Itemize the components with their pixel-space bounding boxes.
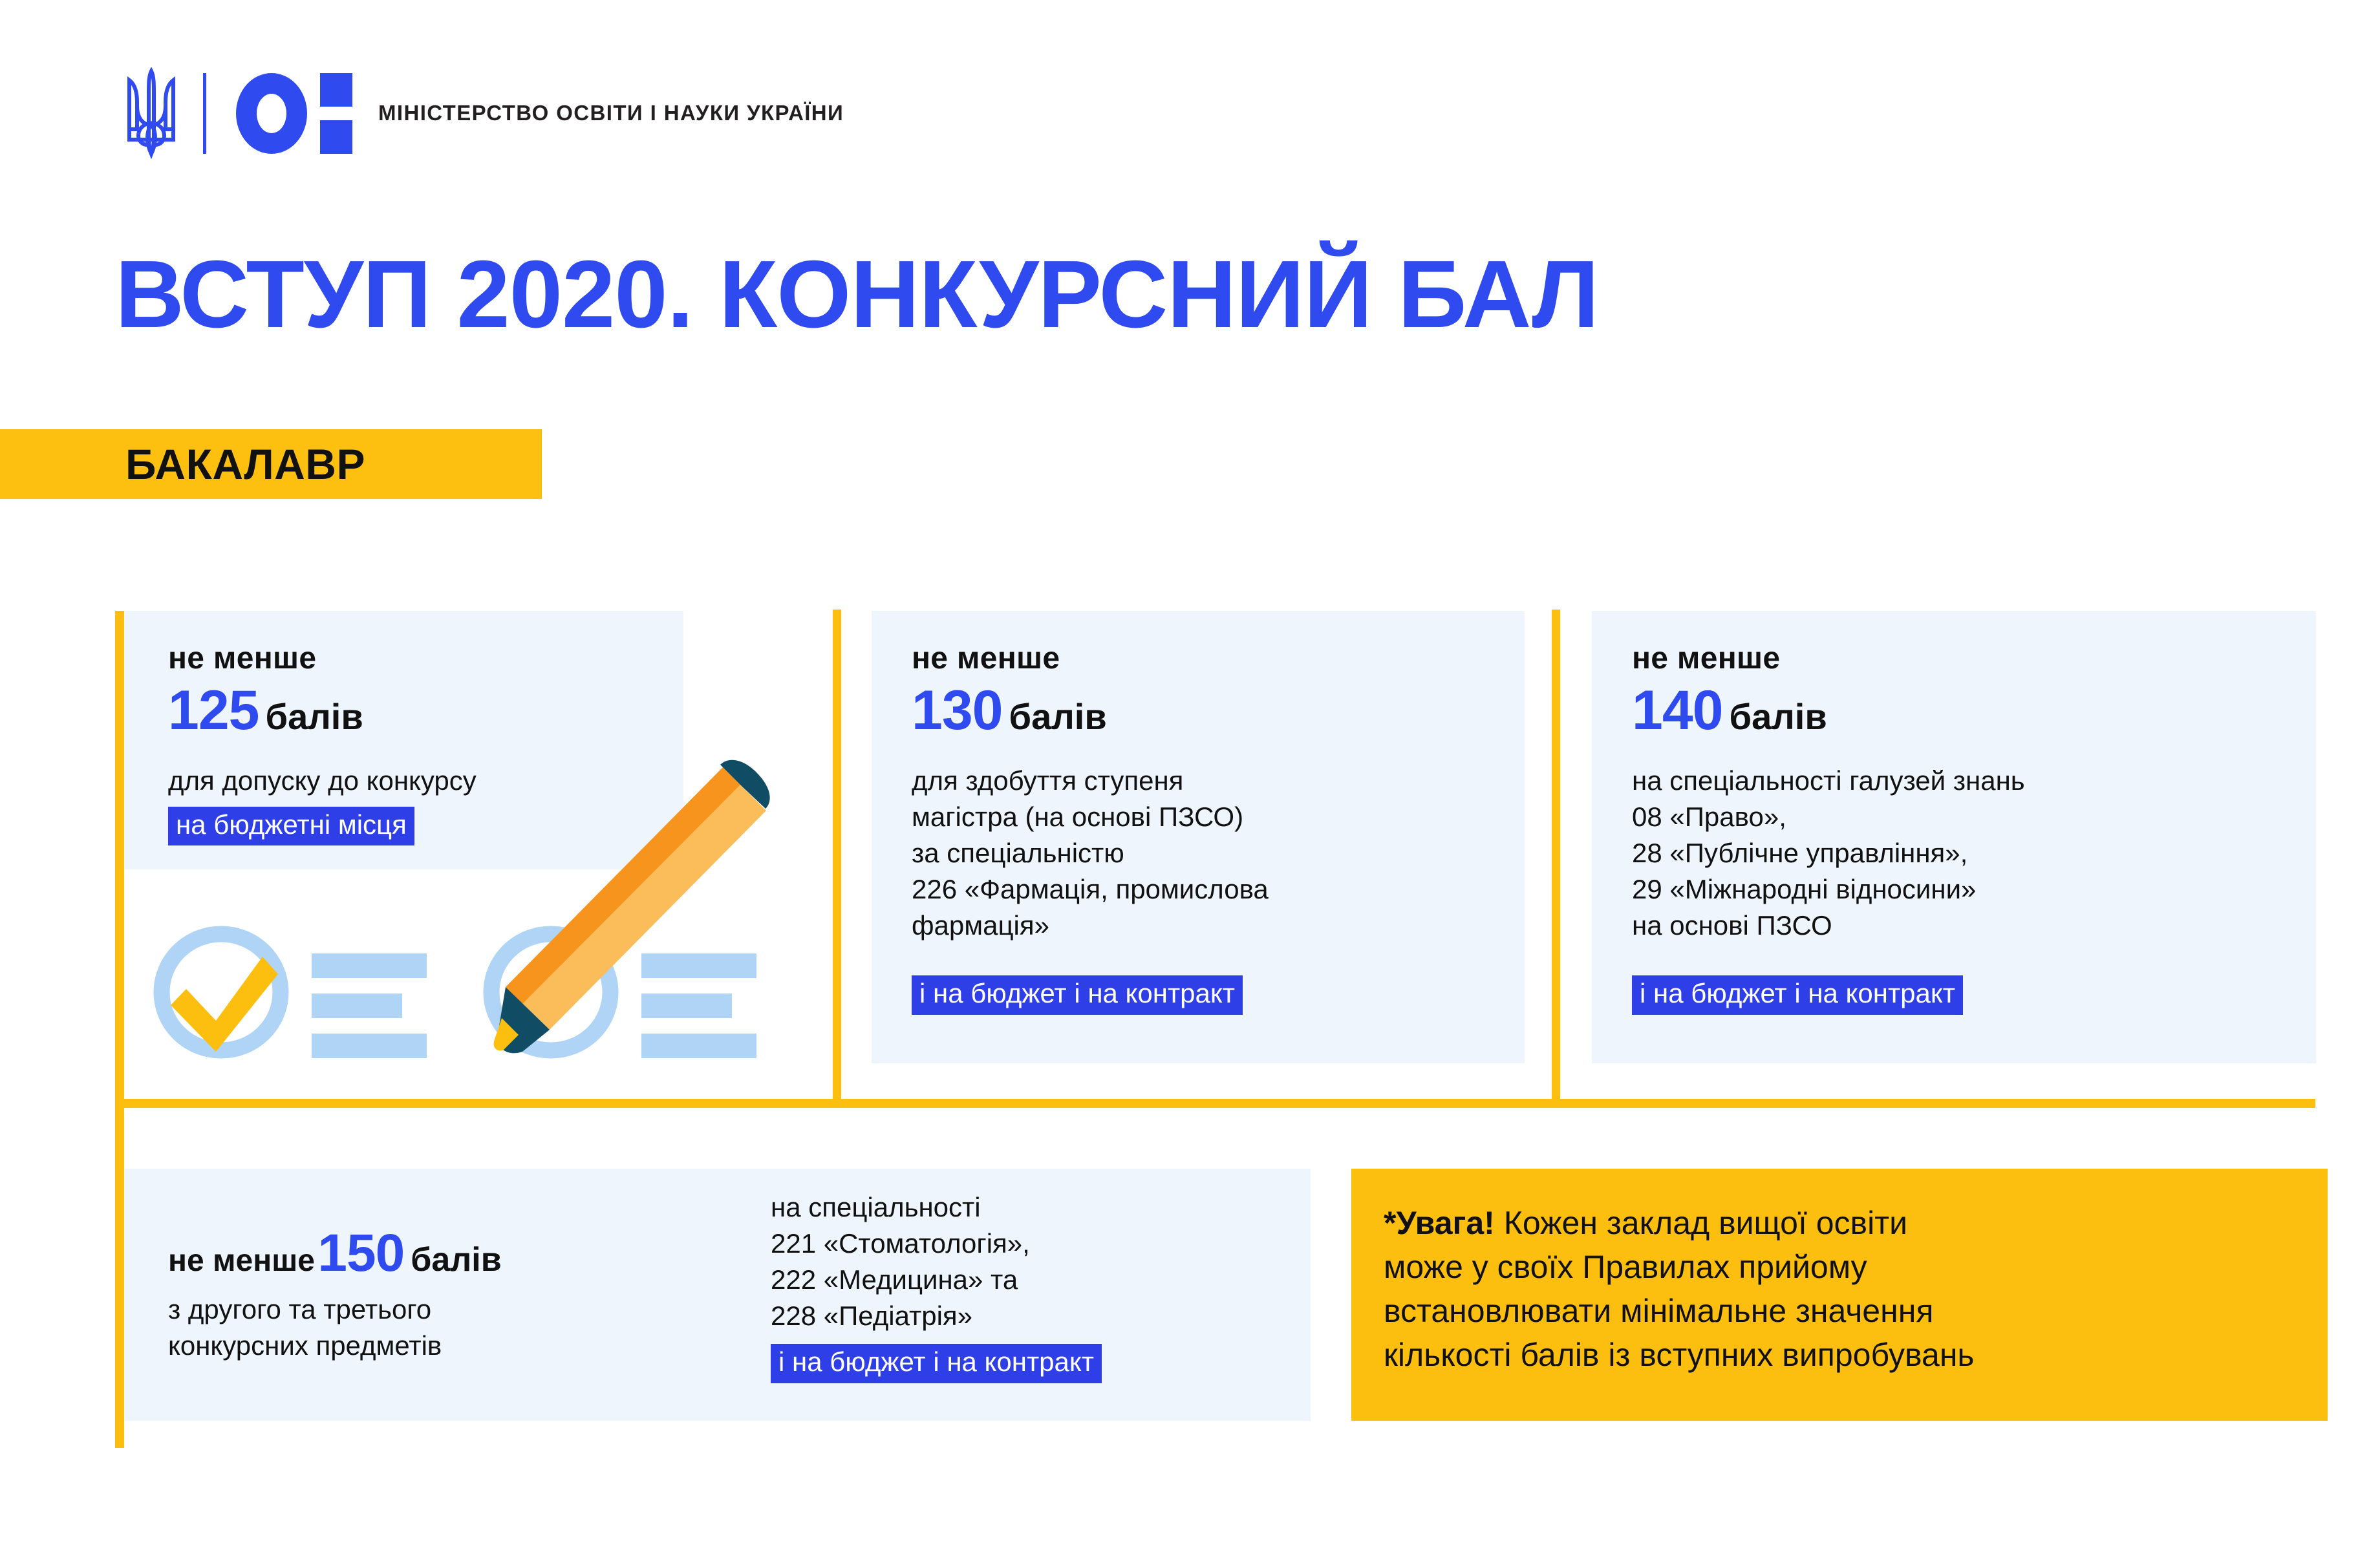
card-badge-wrap-130: і на бюджет і на контракт: [912, 975, 1243, 1015]
warning-text: *Увага! Кожен заклад вищої освіти може у…: [1384, 1201, 2298, 1377]
card-unit-140: балів: [1730, 696, 1827, 737]
card-unit-125: балів: [266, 696, 363, 737]
checklist-illustration: [149, 760, 847, 1083]
page-title: ВСТУП 2020. КОНКУРСНИЙ БАЛ: [115, 247, 1598, 343]
score-card-130: не менше 130балів для здобуття ступеня м…: [872, 611, 1525, 1063]
card-score-row-125: 125балів: [168, 681, 683, 739]
card-score-150: 150: [317, 1224, 404, 1282]
degree-badge-label: БАКАЛАВР: [125, 443, 365, 485]
card-unit-130: балів: [1009, 696, 1107, 737]
logo-divider: [203, 73, 206, 154]
ministry-logo: МІНІСТЕРСТВО ОСВІТИ І НАУКИ УКРАЇНИ: [122, 65, 844, 162]
card-score-row-140: 140балів: [1632, 681, 2316, 739]
card-description-140: на спеціальності галузей знань 08 «Право…: [1632, 763, 2316, 943]
ministry-name: МІНІСТЕРСТВО ОСВІТИ І НАУКИ УКРАЇНИ: [378, 98, 844, 129]
card-score-row-130: 130балів: [912, 681, 1525, 739]
card-lead-150: не менше: [168, 1244, 315, 1278]
card-score-130: 130: [912, 679, 1003, 741]
left-vertical-rule: [115, 611, 124, 1448]
card-description-150: з другого та третього конкурсних предмет…: [168, 1291, 705, 1364]
horizontal-rule: [115, 1099, 2315, 1108]
card-headline-150: не менше 150балів: [168, 1226, 705, 1281]
card-badge-wrap-140: і на бюджет і на контракт: [1632, 975, 1963, 1015]
card-lead-130: не менше: [912, 642, 1525, 676]
score-card-140: не менше 140балів на спеціальності галуз…: [1592, 611, 2316, 1063]
card-description-130: для здобуття ступеня магістра (на основі…: [912, 763, 1525, 943]
card-150-left-column: не менше 150балів з другого та третього …: [168, 1226, 705, 1364]
card-lead-140: не менше: [1632, 642, 2316, 676]
list-lines-icon-2: [641, 953, 756, 1058]
column-divider-2: [1552, 610, 1560, 1100]
card-unit-150: балів: [411, 1241, 502, 1279]
card-specialties-150: на спеціальності 221 «Стоматологія», 222…: [771, 1189, 1281, 1334]
warning-strong: *Увага!: [1384, 1205, 1495, 1241]
card-badge-130: і на бюджет і на контракт: [912, 975, 1243, 1015]
ukraine-trident-icon: [122, 67, 181, 159]
card-lead-125: не менше: [168, 642, 683, 676]
list-lines-icon: [312, 953, 427, 1058]
degree-badge: БАКАЛАВР: [0, 429, 542, 499]
card-150-right-column: на спеціальності 221 «Стоматологія», 222…: [771, 1189, 1281, 1383]
warning-box: *Увага! Кожен заклад вищої освіти може у…: [1351, 1169, 2328, 1421]
mon-o-colon-icon: [236, 73, 352, 154]
card-badge-140: і на бюджет і на контракт: [1632, 975, 1963, 1015]
card-badge-150: і на бюджет і на контракт: [771, 1344, 1102, 1383]
score-card-150: не менше 150балів з другого та третього …: [124, 1169, 1311, 1421]
card-badge-wrap-150: і на бюджет і на контракт: [771, 1344, 1281, 1383]
card-score-140: 140: [1632, 679, 1723, 741]
card-score-125: 125: [168, 679, 259, 741]
